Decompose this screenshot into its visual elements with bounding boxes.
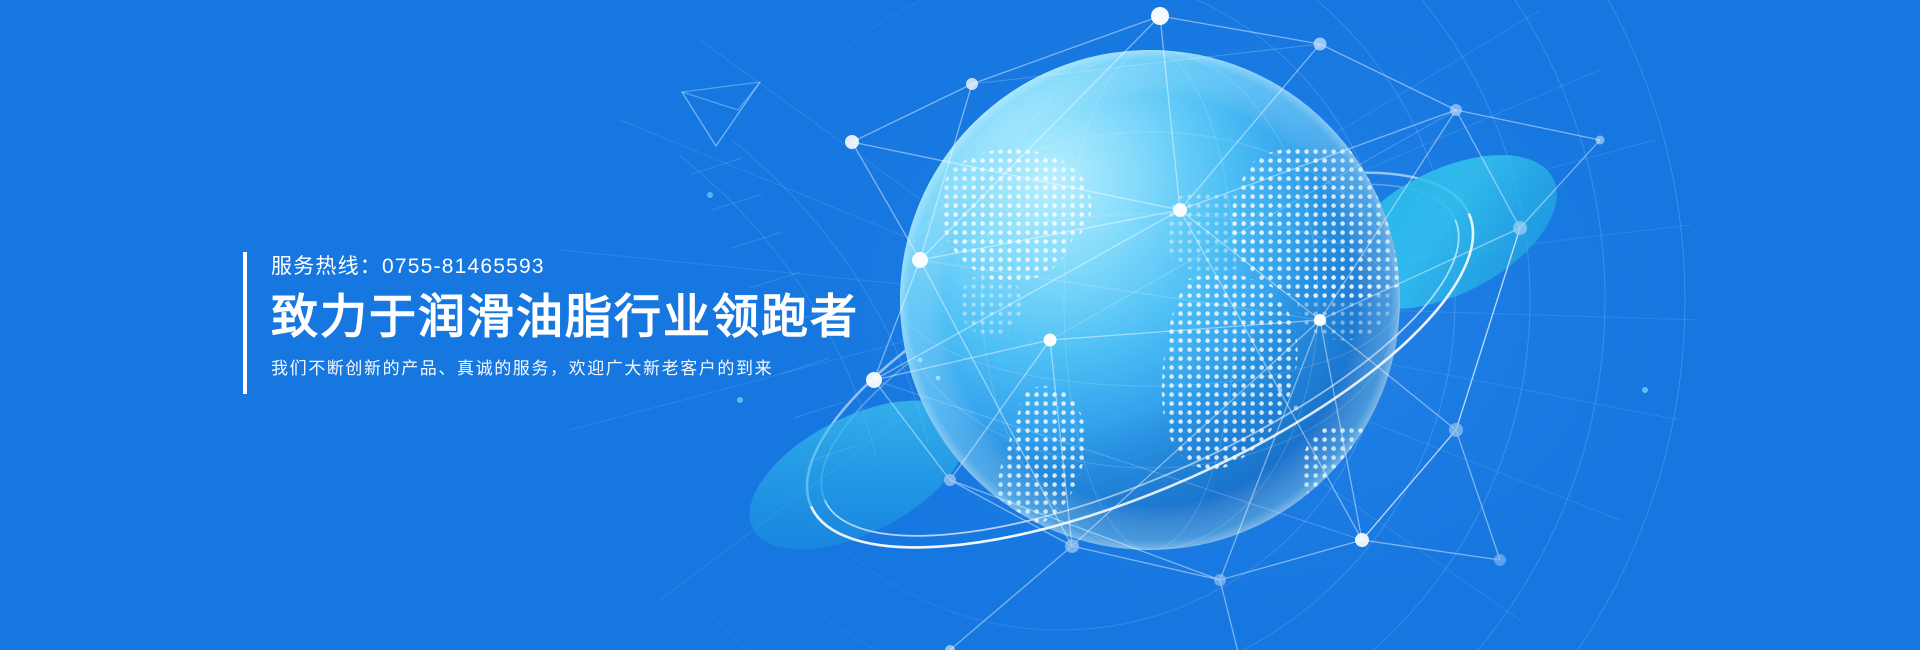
banner-copy: 服务热线：0755-81465593 致力于润滑油脂行业领跑者 我们不断创新的产…: [271, 252, 859, 394]
network-edges: [852, 16, 1600, 650]
promo-banner: 服务热线：0755-81465593 致力于润滑油脂行业领跑者 我们不断创新的产…: [0, 0, 1920, 650]
banner-text-block: 服务热线：0755-81465593 致力于润滑油脂行业领跑者 我们不断创新的产…: [243, 252, 859, 394]
orbit-ring-front: [811, 214, 1521, 624]
wireframe-triangle-decoration: [682, 82, 760, 146]
accent-bar: [243, 252, 247, 394]
globe-continents: [918, 145, 1433, 529]
service-hotline: 服务热线：0755-81465593: [271, 252, 859, 282]
banner-headline: 致力于润滑油脂行业领跑者: [271, 286, 859, 348]
globe-sphere: [900, 50, 1433, 550]
orbit-ring-back: [759, 97, 1521, 624]
background-glow: [780, 0, 1920, 650]
banner-subheading: 我们不断创新的产品、真诚的服务，欢迎广大新老客户的到来: [271, 354, 859, 384]
